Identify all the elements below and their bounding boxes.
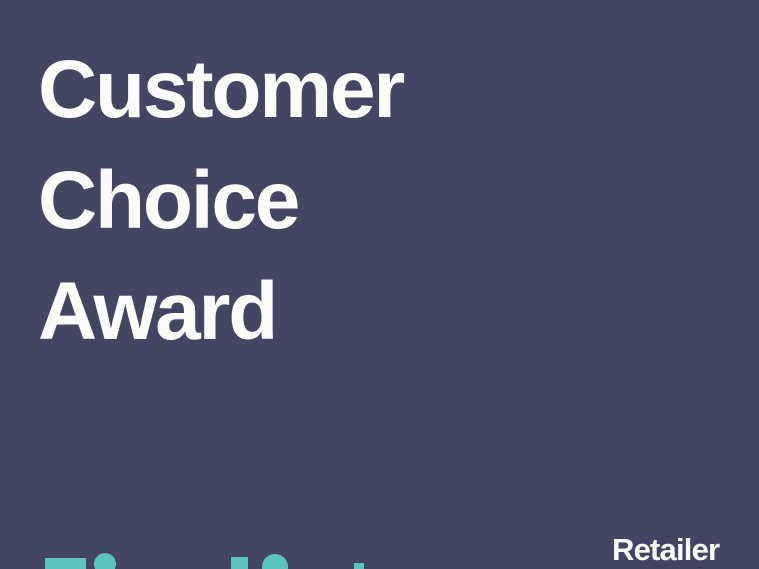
logo-bar-shape	[45, 558, 86, 569]
brand-logo-glyphs	[0, 545, 420, 569]
headline-line-1: Customer	[38, 34, 678, 145]
headline-line-3: Award	[38, 256, 678, 367]
logo-square-shape	[231, 557, 248, 569]
brand-logo	[0, 545, 420, 569]
logo-dot-shape-2	[262, 554, 288, 569]
page-title: Customer Choice Award	[38, 34, 678, 367]
logo-stem-shape	[354, 563, 364, 569]
award-card: Customer Choice Award Retailer	[0, 0, 759, 569]
logo-dot-shape-1	[94, 553, 116, 569]
headline-line-2: Choice	[38, 145, 678, 256]
retailer-wordmark: Retailer	[612, 532, 719, 568]
